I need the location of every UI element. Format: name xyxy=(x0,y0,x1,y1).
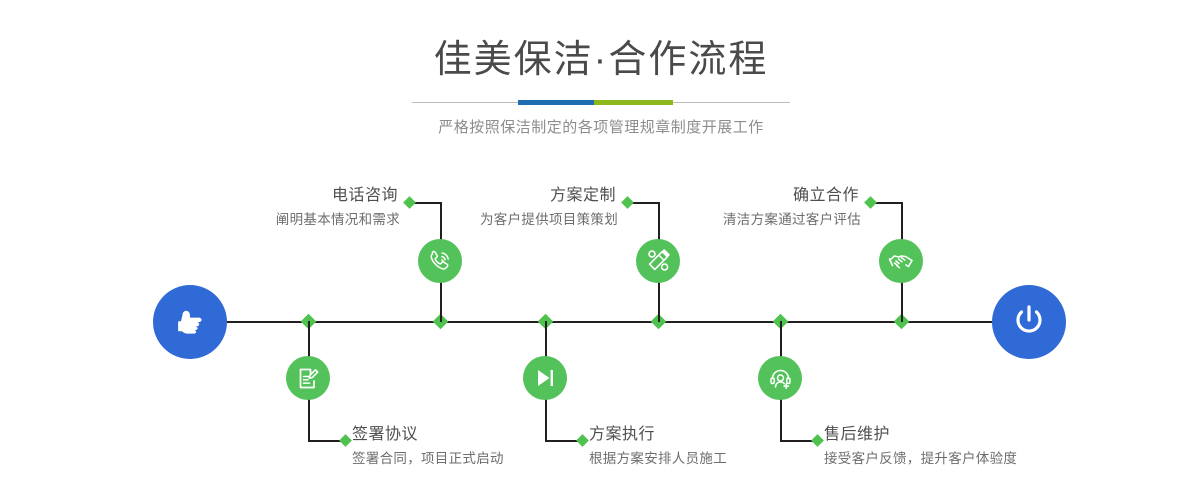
step-icon-6[interactable] xyxy=(758,356,802,400)
label-marker-3 xyxy=(621,196,634,209)
step-label-4: 方案执行 根据方案安排人员施工 xyxy=(589,425,727,469)
step-desc-4: 根据方案安排人员施工 xyxy=(589,445,727,469)
pencil-ruler-icon xyxy=(645,248,671,274)
label-marker-6 xyxy=(811,434,824,447)
divider-blue-segment xyxy=(518,100,594,105)
timeline-axis xyxy=(158,321,1044,323)
flow-diagram-page: 佳美保洁·合作流程 严格按照保洁制定的各项管理规章制度开展工作 xyxy=(0,0,1202,502)
step-desc-3: 为客户提供项目策策划 xyxy=(420,206,618,230)
step-label-1: 电话咨询 阐明基本情况和需求 xyxy=(200,186,400,230)
label-marker-4 xyxy=(576,434,589,447)
phone-call-icon xyxy=(427,248,453,274)
label-marker-2 xyxy=(339,434,352,447)
power-icon xyxy=(1009,300,1049,345)
step-icon-2[interactable] xyxy=(286,356,330,400)
step-label-2: 签署协议 签署合同，项目正式启动 xyxy=(352,425,504,469)
step-title-6: 售后维护 xyxy=(824,425,1017,445)
step-icon-1[interactable] xyxy=(418,239,462,283)
customer-support-icon xyxy=(768,366,793,391)
end-node[interactable] xyxy=(992,285,1066,359)
label-marker-1 xyxy=(403,196,416,209)
step-desc-5: 清洁方案通过客户评估 xyxy=(665,206,861,230)
step-title-4: 方案执行 xyxy=(589,425,727,445)
play-skip-icon xyxy=(533,366,557,390)
step-label-3: 方案定制 为客户提供项目策策划 xyxy=(420,186,618,230)
step-icon-3[interactable] xyxy=(636,239,680,283)
step-icon-5[interactable] xyxy=(879,239,923,283)
step-desc-6: 接受客户反馈，提升客户体验度 xyxy=(824,445,1017,469)
step-title-1: 电话咨询 xyxy=(200,186,400,206)
step-desc-2: 签署合同，项目正式启动 xyxy=(352,445,504,469)
step-label-6: 售后维护 接受客户反馈，提升客户体验度 xyxy=(824,425,1017,469)
pointing-hand-icon xyxy=(169,299,211,346)
header: 佳美保洁·合作流程 严格按照保洁制定的各项管理规章制度开展工作 xyxy=(0,0,1202,137)
page-subtitle: 严格按照保洁制定的各项管理规章制度开展工作 xyxy=(0,106,1202,137)
step-title-2: 签署协议 xyxy=(352,425,504,445)
start-node[interactable] xyxy=(153,285,227,359)
step-desc-1: 阐明基本情况和需求 xyxy=(200,206,400,230)
step-icon-4[interactable] xyxy=(523,356,567,400)
page-title: 佳美保洁·合作流程 xyxy=(0,0,1202,84)
step-title-3: 方案定制 xyxy=(420,186,618,206)
label-marker-5 xyxy=(864,196,877,209)
handshake-icon xyxy=(888,248,915,275)
step-title-5: 确立合作 xyxy=(665,186,861,206)
divider-green-segment xyxy=(594,100,673,105)
title-divider xyxy=(412,100,790,106)
document-edit-icon xyxy=(296,366,321,391)
step-label-5: 确立合作 清洁方案通过客户评估 xyxy=(665,186,861,230)
